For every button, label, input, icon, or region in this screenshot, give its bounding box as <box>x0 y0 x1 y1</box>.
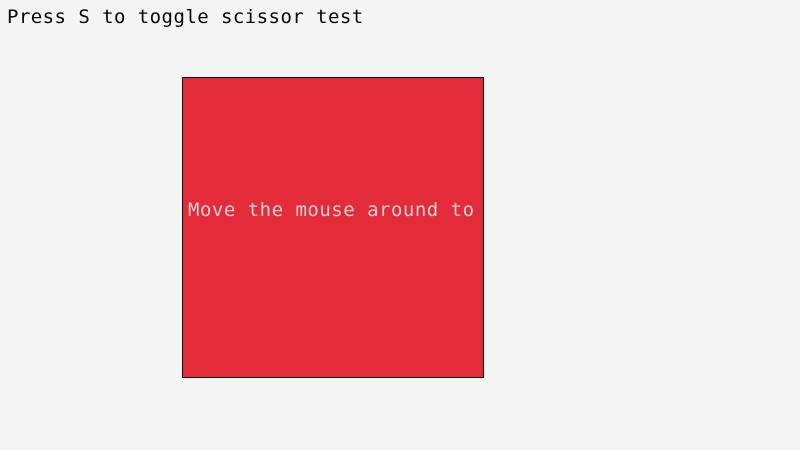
app-canvas: Press S to toggle scissor test Move the … <box>0 0 800 450</box>
scissor-rectangle[interactable]: Move the mouse around to r <box>182 77 484 378</box>
scissor-clipped-message: Move the mouse around to r <box>188 199 483 221</box>
scissor-toggle-hint: Press S to toggle scissor test <box>7 6 364 28</box>
scissor-clip-region: Move the mouse around to r <box>183 78 483 377</box>
